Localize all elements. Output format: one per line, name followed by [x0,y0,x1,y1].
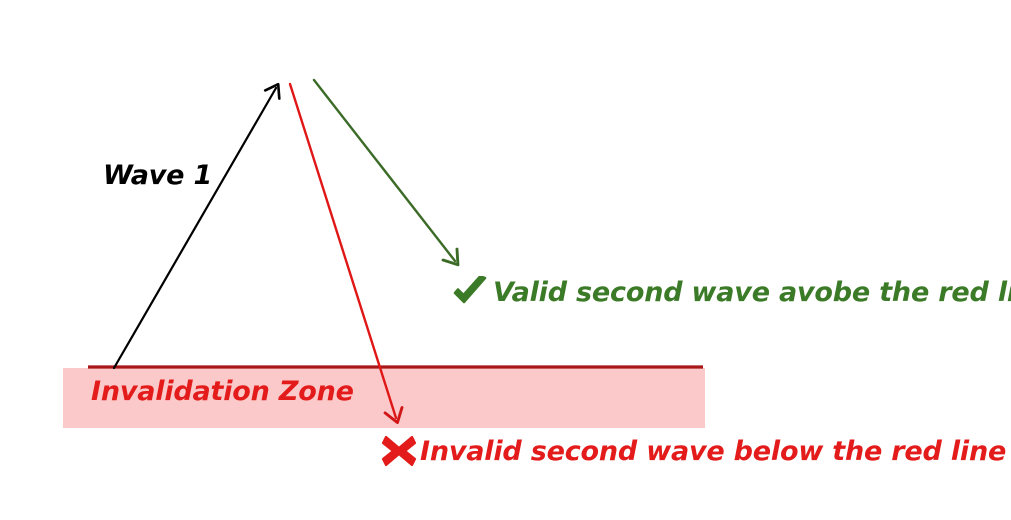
wave1-arrow [114,88,276,368]
valid-second-wave-arrow [314,80,455,261]
cross-mark-icon [381,434,417,468]
valid-second-wave-caption: Valid second wave avobe the red line [493,277,1011,308]
diagram-canvas: Wave 1 Invalidation Zone Valid second wa… [0,0,1011,520]
invalidation-zone-label: Invalidation Zone [91,376,354,407]
wave1-label: Wave 1 [103,160,212,191]
check-mark-icon [452,276,488,308]
invalid-second-wave-caption: Invalid second wave below the red line [420,436,1006,467]
